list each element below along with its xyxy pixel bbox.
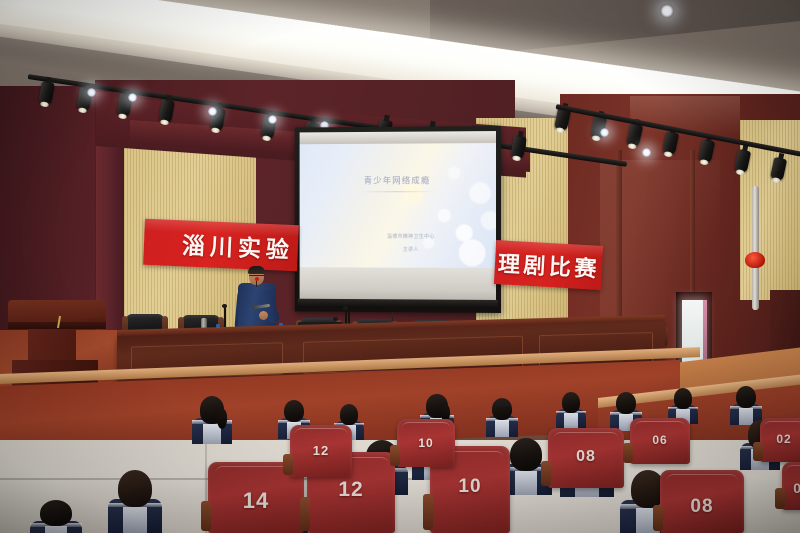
slide-title: 青少年网络成瘾 xyxy=(300,174,496,187)
audience-member xyxy=(30,500,82,533)
light-beam-glow xyxy=(268,115,277,124)
seat-number: 14 xyxy=(208,488,304,514)
seat-armrest xyxy=(300,497,310,531)
uniform-front-panel xyxy=(515,471,538,495)
ponytail xyxy=(217,409,227,429)
student-head xyxy=(736,386,756,408)
light-beam-glow xyxy=(128,93,137,102)
uniform-front-panel xyxy=(564,413,577,428)
banner-left-text: 淄川实验 xyxy=(181,226,294,265)
hair-clip xyxy=(493,403,511,406)
projection-screen: 青少年网络成瘾 淄博市精神卫生中心 主讲人 xyxy=(295,126,501,313)
theater-seat[interactable]: 08 xyxy=(660,470,744,533)
fire-alarm-icon xyxy=(745,252,765,268)
slide-surface: 青少年网络成瘾 淄博市精神卫生中心 主讲人 xyxy=(300,143,496,268)
seat-number: 10 xyxy=(397,436,455,450)
student-head xyxy=(674,388,693,409)
table-microphone-stem xyxy=(224,307,226,329)
table-microphone-head xyxy=(343,306,348,310)
light-beam-glow xyxy=(600,128,609,137)
student-head xyxy=(340,404,359,425)
light-beam-glow xyxy=(87,88,96,97)
seat-rim xyxy=(294,428,347,443)
uniform-front-panel xyxy=(495,420,509,436)
student-head xyxy=(492,398,512,420)
seat-armrest xyxy=(423,494,433,531)
student-head xyxy=(616,392,636,414)
headset-mic-boom xyxy=(256,281,257,287)
speaker-hand xyxy=(259,311,268,320)
seat-rim xyxy=(634,421,686,434)
theater-seat[interactable]: 02 xyxy=(760,418,800,462)
slide-subtitle-line2: 主讲人 xyxy=(342,246,480,253)
theater-seat[interactable]: 10 xyxy=(397,419,455,467)
student-head xyxy=(284,400,304,422)
seat-armrest xyxy=(623,443,633,462)
theater-seat[interactable]: 08 xyxy=(548,428,624,488)
seat-rim xyxy=(553,432,618,449)
fire-sprinkler-pipe xyxy=(752,186,759,310)
light-beam-glow xyxy=(208,107,217,116)
light-beam-glow xyxy=(642,148,651,157)
audience-member xyxy=(192,396,232,438)
screen-lower-band xyxy=(300,267,496,300)
seat-armrest xyxy=(653,505,663,531)
seat-armrest xyxy=(390,445,400,465)
speaker-hair xyxy=(248,266,265,274)
student-head xyxy=(562,392,581,413)
theater-seat[interactable]: 06 xyxy=(630,418,690,464)
student-head xyxy=(40,500,72,526)
seat-number: 10 xyxy=(430,476,510,498)
banner-left: 淄川实验 xyxy=(143,219,299,271)
seat-number: 12 xyxy=(290,443,352,458)
seat-rim xyxy=(401,422,451,435)
table-microphone-head xyxy=(333,317,338,321)
seat-number: 02 xyxy=(760,432,800,446)
downlight-icon xyxy=(660,4,674,18)
seat-armrest xyxy=(775,488,785,508)
seat-rim xyxy=(666,474,738,491)
table-microphone-head xyxy=(222,304,227,308)
seat-armrest xyxy=(753,442,763,460)
audience-member xyxy=(108,470,162,526)
seat-number: 12 xyxy=(307,478,395,502)
banner-right: 理剧比赛 xyxy=(494,240,603,290)
auditorium-photo: 青少年网络成瘾 淄博市精神卫生中心 主讲人 淄川实验 理剧比赛 xyxy=(0,0,800,533)
seat-number: 08 xyxy=(660,496,744,518)
uniform-front-panel xyxy=(123,507,147,533)
seat-armrest xyxy=(201,501,211,531)
seat-rim xyxy=(785,465,800,478)
audience-member xyxy=(486,398,518,432)
student-head xyxy=(118,470,151,507)
seat-armrest xyxy=(283,454,293,476)
banner-right-text: 理剧比赛 xyxy=(497,246,601,284)
theater-seat[interactable]: 06 xyxy=(782,462,800,510)
theater-seat[interactable]: 12 xyxy=(290,425,352,477)
student-head xyxy=(510,438,542,471)
audience-member xyxy=(556,392,586,424)
seat-armrest xyxy=(541,461,551,486)
headset-mic-icon xyxy=(255,277,259,281)
seat-number: 08 xyxy=(548,448,624,466)
slide-subtitle-line1: 淄博市精神卫生中心 xyxy=(342,233,480,240)
audience-member xyxy=(668,388,698,420)
uniform-front-panel xyxy=(45,526,68,533)
audience-member xyxy=(730,386,762,420)
slide-divider xyxy=(358,191,437,192)
seat-number: 06 xyxy=(630,433,690,447)
screen-bottom-frame xyxy=(298,299,498,309)
